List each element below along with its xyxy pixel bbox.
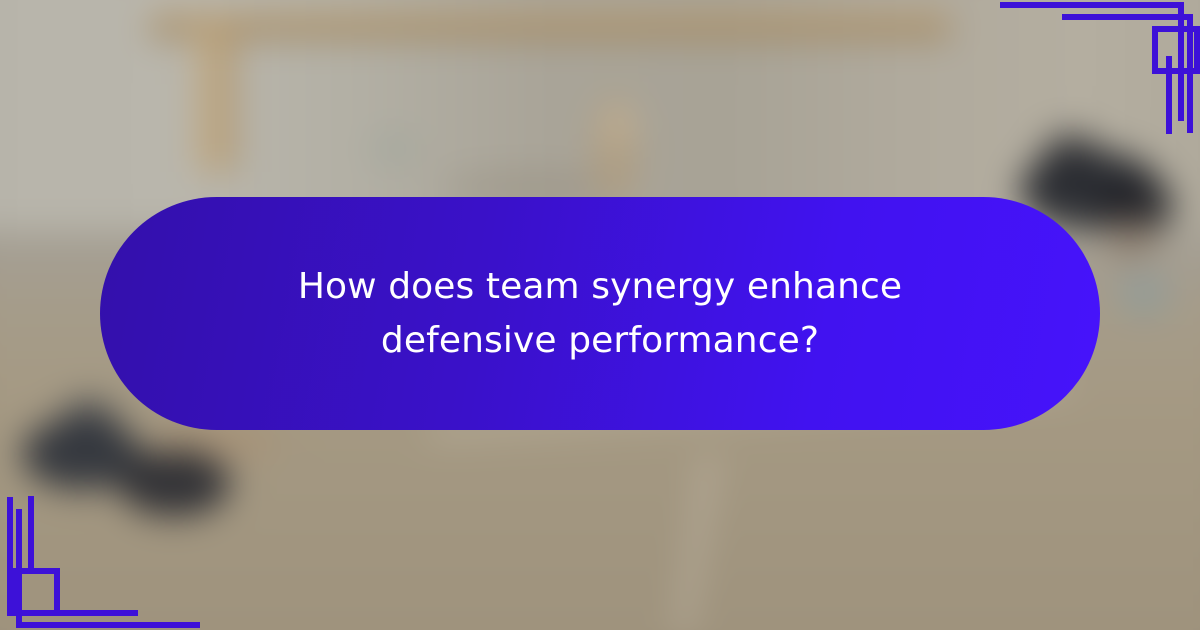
screenshot-canvas: How does team synergy enhance defensive … (0, 0, 1200, 630)
question-card: How does team synergy enhance defensive … (100, 197, 1100, 430)
ornament-tail (28, 496, 34, 574)
background-person-right-limb-blur (1104, 214, 1158, 262)
background-equipment-blur (1118, 272, 1170, 316)
background-standing-person-head-blur (604, 108, 634, 142)
ornament-line-horizontal-outer (1000, 2, 1184, 8)
background-object-blur (370, 132, 416, 166)
ornament-square (1152, 26, 1200, 74)
ornament-tail (1166, 56, 1172, 134)
ornament-line-horizontal-outer (16, 622, 200, 628)
ornament-square (12, 568, 60, 616)
background-wall-post (195, 22, 237, 172)
question-text: How does team synergy enhance defensive … (220, 260, 980, 368)
background-wall-bar (150, 12, 950, 38)
background-person-left-legs-blur (118, 450, 230, 516)
ornament-line-horizontal-inner (1062, 14, 1193, 20)
